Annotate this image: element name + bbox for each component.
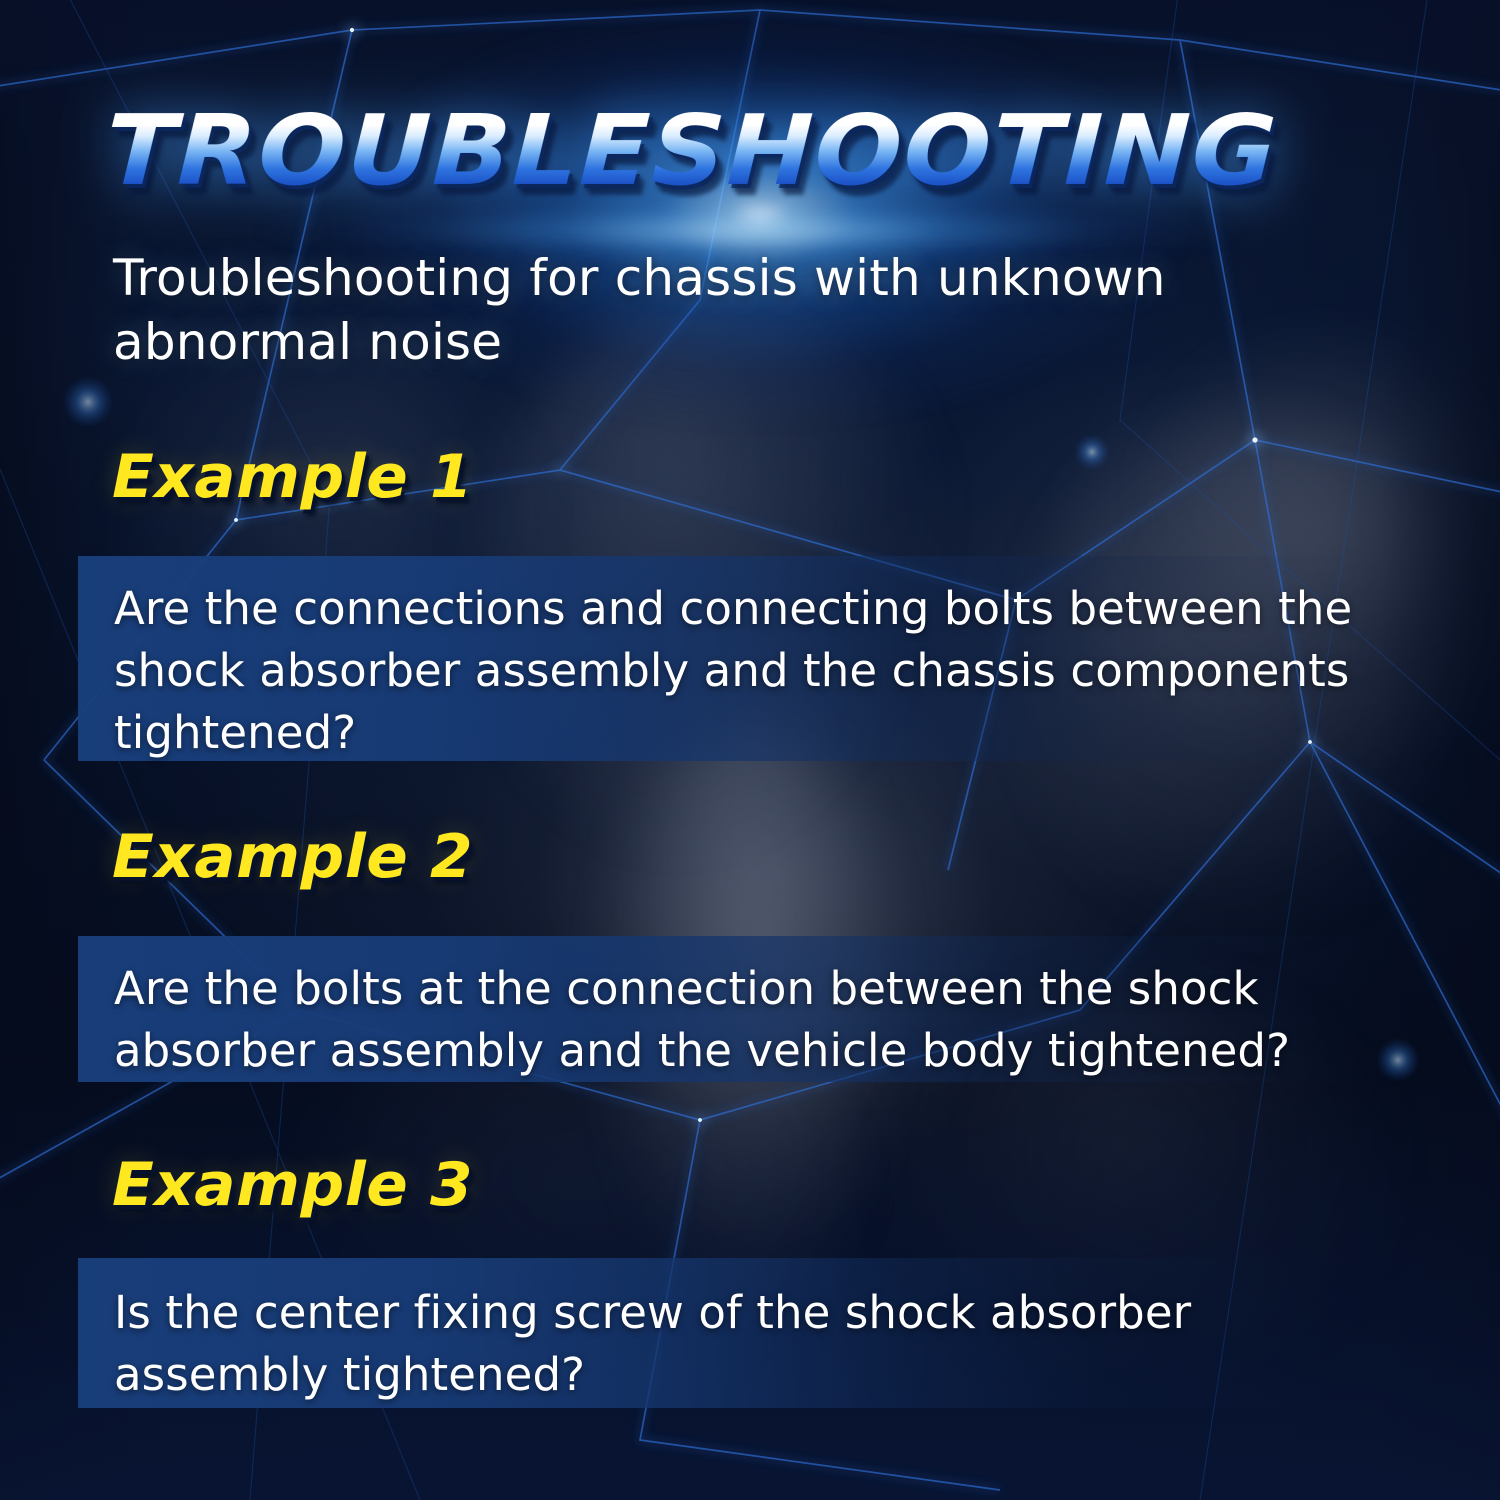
example-3-panel: Is the center fixing screw of the shock … [78, 1258, 1328, 1408]
example-2-panel: Are the bolts at the connection between … [78, 936, 1400, 1082]
example-3-question: Is the center fixing screw of the shock … [114, 1282, 1284, 1406]
example-2-label: Example 2 [112, 824, 473, 890]
page-title-text: TROUBLESHOOTING [104, 96, 1316, 206]
example-1-question: Are the connections and connecting bolts… [114, 578, 1354, 764]
example-1-panel: Are the connections and connecting bolts… [78, 556, 1350, 761]
troubleshooting-infographic: TROUBLESHOOTING Troubleshooting for chas… [0, 0, 1500, 1500]
page-subtitle: Troubleshooting for chassis with unknown… [113, 246, 1233, 374]
example-2-question: Are the bolts at the connection between … [114, 958, 1404, 1082]
page-title: TROUBLESHOOTING [106, 96, 1246, 206]
example-3-label: Example 3 [112, 1152, 473, 1218]
example-1-label: Example 1 [112, 444, 473, 510]
